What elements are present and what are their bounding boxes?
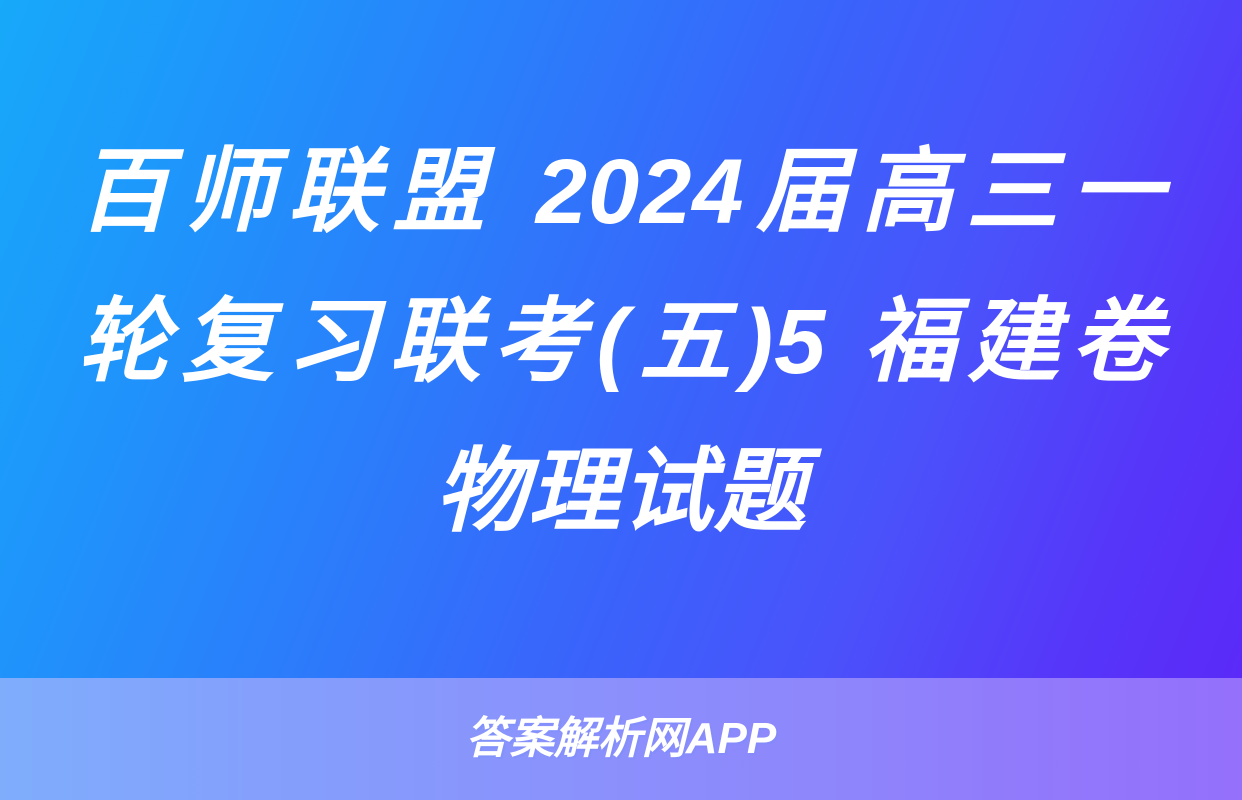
watermark-footer-bar: 答案解析网APP bbox=[0, 678, 1242, 800]
cover-title-line-2: 轮复习联考(五)5 福建卷 bbox=[78, 267, 1164, 417]
app-watermark-label: 答案解析网APP bbox=[466, 717, 776, 761]
cover-title-line-1: 百师联盟 2024届高三一 bbox=[78, 117, 1164, 267]
cover-title-block: 百师联盟 2024届高三一 轮复习联考(五)5 福建卷 物理试题 bbox=[0, 0, 1242, 678]
cover-card: 百师联盟 2024届高三一 轮复习联考(五)5 福建卷 物理试题 答案解析网AP… bbox=[0, 0, 1242, 800]
cover-title-line-3: 物理试题 bbox=[78, 417, 1164, 567]
